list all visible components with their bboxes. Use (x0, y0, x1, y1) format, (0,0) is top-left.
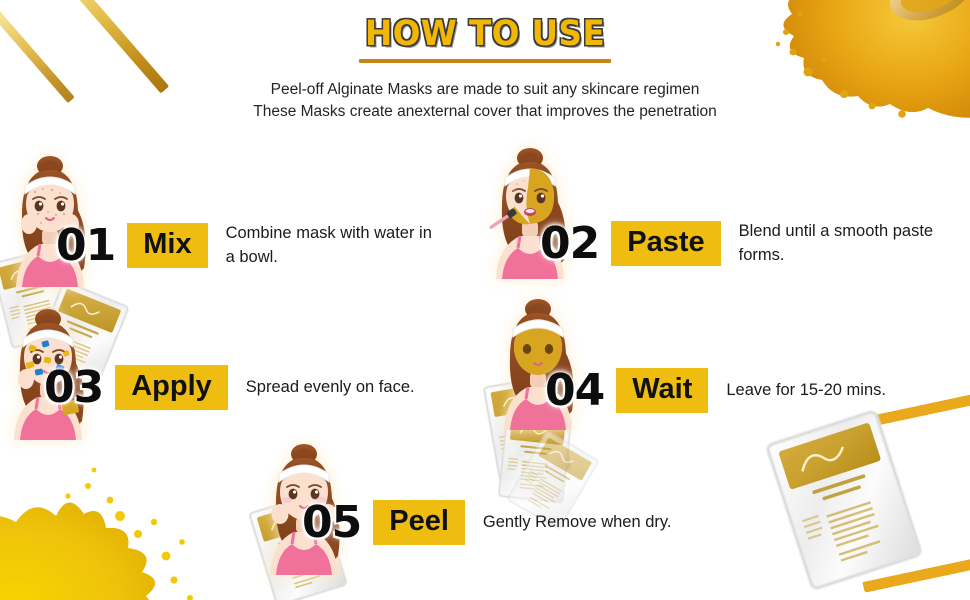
step-badge: Peel (373, 500, 465, 545)
page-title: HOW TO USE (365, 14, 605, 54)
step-description: Combine mask with water in a bowl. (226, 222, 441, 270)
step-1: 01 Mix Combine mask with water in a bowl… (56, 222, 441, 270)
subtitle-line-1: Peel-off Alginate Masks are made to suit… (0, 79, 970, 101)
step-5: 05 Peel Gently Remove when dry. (302, 500, 672, 545)
step-description: Blend until a smooth paste forms. (739, 220, 954, 268)
step-badge: Wait (616, 368, 708, 413)
subtitle: Peel-off Alginate Masks are made to suit… (0, 79, 970, 124)
title-underline (359, 59, 611, 63)
turmeric-powder-bottom-left-icon (0, 456, 260, 600)
step-description: Gently Remove when dry. (483, 511, 672, 535)
step-badge: Mix (127, 223, 207, 268)
step-number: 04 (545, 369, 604, 413)
step-description: Spread evenly on face. (246, 376, 415, 400)
step-description: Leave for 15-20 mins. (726, 379, 886, 403)
step-number: 05 (302, 501, 361, 545)
step-3: 03 Apply Spread evenly on face. (44, 365, 415, 410)
step-number: 02 (540, 222, 599, 266)
infographic-canvas: HOW TO USE Peel-off Alginate Masks are m… (0, 0, 970, 600)
step-badge: Apply (115, 365, 228, 410)
step-badge: Paste (611, 221, 720, 266)
header: HOW TO USE Peel-off Alginate Masks are m… (0, 14, 970, 124)
step-2: 02 Paste Blend until a smooth paste form… (540, 220, 954, 268)
step-number: 03 (44, 366, 103, 410)
subtitle-line-2: These Masks create anexternal cover that… (0, 101, 970, 123)
step-number: 01 (56, 224, 115, 268)
step-4: 04 Wait Leave for 15-20 mins. (545, 368, 886, 413)
